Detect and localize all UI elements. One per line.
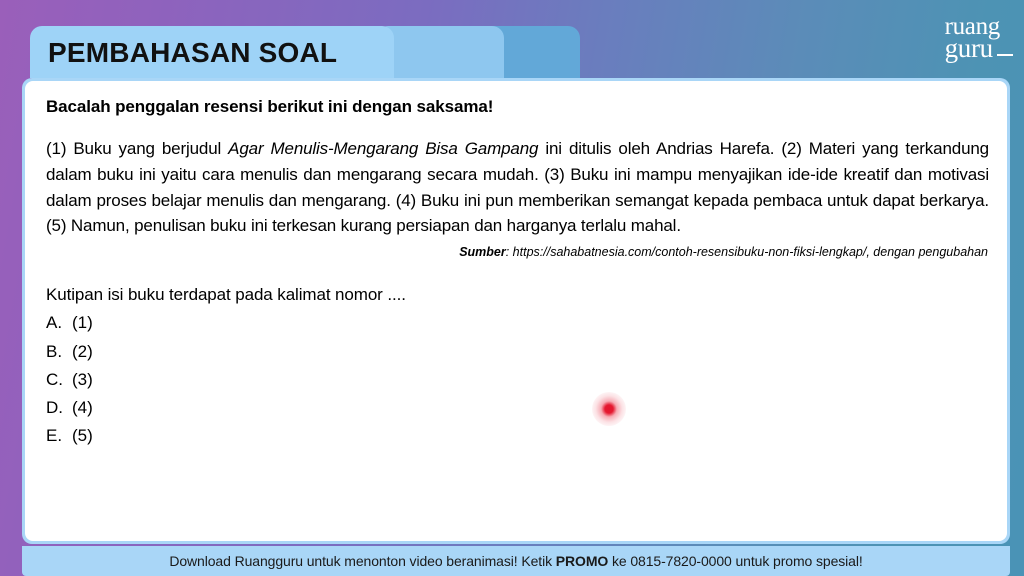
content-card-frame: Bacalah penggalan resensi berikut ini de…: [22, 78, 1010, 544]
option-value: (4): [72, 394, 93, 422]
option-value: (2): [72, 338, 93, 366]
option-letter: B.: [46, 338, 72, 366]
option-value: (1): [72, 309, 93, 337]
promo-text-before: Download Ruangguru untuk menonton video …: [169, 553, 555, 569]
passage-before-title: (1) Buku yang berjudul: [46, 139, 228, 158]
ruangguru-logo: ruang guru: [945, 16, 1000, 60]
option-b[interactable]: B. (2): [46, 338, 989, 366]
option-letter: E.: [46, 422, 72, 450]
instruction-text: Bacalah penggalan resensi berikut ini de…: [46, 97, 989, 117]
promo-footer-text: Download Ruangguru untuk menonton video …: [169, 553, 862, 569]
question-text: Kutipan isi buku terdapat pada kalimat n…: [46, 285, 989, 305]
promo-footer: Download Ruangguru untuk menonton video …: [22, 546, 1010, 576]
logo-line-guru: guru: [945, 37, 1000, 60]
source-citation: Sumber: https://sahabatnesia.com/contoh-…: [46, 245, 989, 259]
option-letter: C.: [46, 366, 72, 394]
option-letter: A.: [46, 309, 72, 337]
tab-pembahasan-soal[interactable]: PEMBAHASAN SOAL: [30, 26, 394, 78]
source-url: : https://sahabatnesia.com/contoh-resens…: [506, 245, 988, 259]
tab-decor-mid: [376, 26, 504, 78]
promo-text-after: ke 0815-7820-0000 untuk promo spesial!: [608, 553, 863, 569]
book-title: Agar Menulis-Mengarang Bisa Gampang: [228, 139, 538, 158]
logo-swash-icon: [997, 54, 1013, 56]
answer-options: A. (1) B. (2) C. (3) D. (4) E. (5): [46, 309, 989, 450]
option-value: (5): [72, 422, 93, 450]
promo-keyword: PROMO: [556, 553, 608, 569]
option-a[interactable]: A. (1): [46, 309, 989, 337]
option-e[interactable]: E. (5): [46, 422, 989, 450]
page-title: PEMBAHASAN SOAL: [48, 37, 337, 69]
content-card: Bacalah penggalan resensi berikut ini de…: [25, 81, 1007, 541]
passage-text: (1) Buku yang berjudul Agar Menulis-Meng…: [46, 136, 989, 239]
source-label: Sumber: [459, 245, 506, 259]
option-d[interactable]: D. (4): [46, 394, 989, 422]
option-value: (3): [72, 366, 93, 394]
option-letter: D.: [46, 394, 72, 422]
option-c[interactable]: C. (3): [46, 366, 989, 394]
